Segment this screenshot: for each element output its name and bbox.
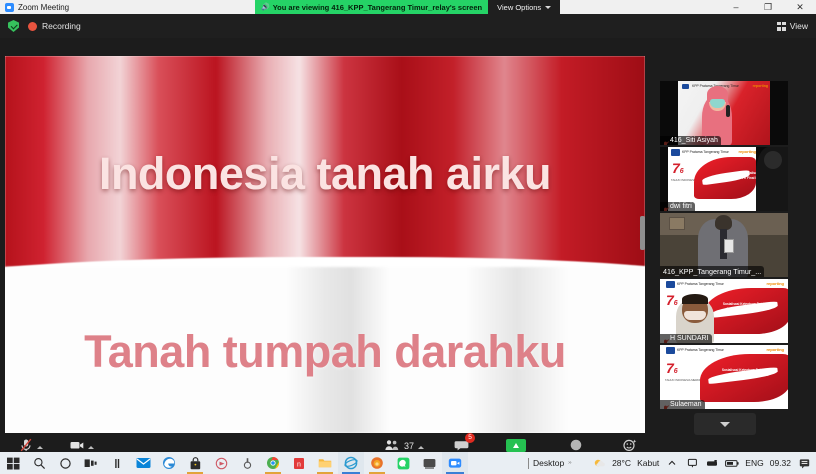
participant-tile[interactable]: KPP Pratama Tangerang Timur reporting 76… [660, 147, 788, 211]
widgets-button[interactable] [104, 452, 130, 474]
participant-tile[interactable]: KPP Pratama Tangerang Timur reporting 41… [660, 81, 788, 145]
desktop-peek[interactable]: Desktop ›› [528, 452, 572, 474]
chevron-up-icon[interactable] [665, 456, 679, 470]
record-button[interactable] [568, 436, 584, 452]
participant-tile[interactable]: KPP Pratama Tangerang Timur reporting 76… [660, 279, 788, 343]
window-title-bar: Zoom Meeting 🔊 You are viewing 416_KPP_T… [0, 0, 816, 14]
weather-condition: Kabut [637, 458, 659, 468]
clock[interactable]: 09.32 [770, 458, 791, 468]
chevron-up-icon[interactable] [418, 446, 424, 449]
zoom-logo-icon [5, 3, 14, 12]
weather-temperature: 28°C [612, 458, 631, 468]
camera-icon [69, 438, 85, 452]
sun-cloud-icon[interactable] [592, 456, 606, 470]
edge-app[interactable] [156, 452, 182, 474]
screen-share-banner: 🔊 You are viewing 416_KPP_Tangerang Timu… [255, 0, 560, 14]
zoom-meeting-window: Zoom Meeting 🔊 You are viewing 416_KPP_T… [0, 0, 816, 474]
participants-icon [384, 438, 400, 452]
recording-bar: Recording View [0, 14, 816, 38]
meeting-toolbar: 37 5 [0, 436, 816, 452]
svg-text:n: n [297, 461, 301, 468]
recording-indicator[interactable]: Recording [28, 21, 81, 31]
store-app[interactable] [182, 452, 208, 474]
speaker-icon: 🔊 [261, 4, 270, 11]
window-title: Zoom Meeting [18, 3, 69, 12]
participant-tile-active[interactable]: 416_KPP_Tangerang Timur_... [660, 213, 788, 277]
chevron-down-icon [720, 422, 730, 427]
slide-line-bottom: Tanah tumpah darahku [5, 326, 645, 378]
desktop-label: Desktop [533, 458, 564, 468]
task-view-button[interactable] [78, 452, 104, 474]
ie-app[interactable] [338, 452, 364, 474]
viewing-text: You are viewing 416_KPP_Tangerang Timur_… [273, 3, 482, 12]
participants-button[interactable]: 37 [384, 436, 424, 452]
language-indicator[interactable]: ENG [745, 458, 763, 468]
view-options-button[interactable]: View Options [488, 0, 560, 14]
record-circle-icon [568, 438, 584, 452]
filmstrip-scroll-down-button[interactable] [694, 413, 756, 435]
chat-button[interactable]: 5 [454, 436, 470, 452]
share-screen-button[interactable] [506, 436, 526, 452]
explorer-app[interactable] [312, 452, 338, 474]
app-identity: Zoom Meeting [0, 3, 69, 12]
cortana-button[interactable] [52, 452, 78, 474]
window-controls: – ❐ ✕ [720, 0, 816, 14]
mail-app[interactable] [130, 452, 156, 474]
notification-icon[interactable] [797, 456, 811, 470]
whatsapp-app[interactable] [390, 452, 416, 474]
maximize-button[interactable]: ❐ [752, 0, 784, 14]
chevron-up-icon[interactable] [88, 446, 94, 449]
grid-view-icon [777, 22, 786, 31]
participant-name: dwi fitri [660, 202, 695, 211]
minimize-button[interactable]: – [720, 0, 752, 14]
display-icon[interactable] [685, 456, 699, 470]
chat-badge: 5 [465, 433, 475, 443]
network-icon[interactable] [705, 456, 719, 470]
reactions-button[interactable] [622, 436, 638, 452]
notepad-app[interactable]: n [286, 452, 312, 474]
mute-button[interactable] [18, 436, 43, 452]
shared-screen-content[interactable]: Indonesia tanah airku Tanah tumpah darah… [5, 56, 645, 433]
participant-name: 416_Siti Asiyah [660, 136, 721, 145]
slide-line-top: Indonesia tanah airku [5, 148, 645, 200]
vertical-scrollbar[interactable] [640, 216, 645, 250]
view-options-label: View Options [497, 3, 541, 12]
chevron-up-icon[interactable] [37, 446, 43, 449]
divider [528, 458, 529, 469]
chrome-app[interactable] [260, 452, 286, 474]
battery-icon[interactable] [725, 456, 739, 470]
windows-taskbar: n Desktop ›› 28°C Kabu [0, 452, 816, 474]
terminal-app[interactable] [416, 452, 442, 474]
system-tray: 28°C Kabut ENG 09.32 [592, 452, 816, 474]
search-icon[interactable] [26, 452, 52, 474]
start-button[interactable] [0, 452, 26, 474]
shield-check-icon[interactable] [8, 20, 19, 32]
firefox-app[interactable] [364, 452, 390, 474]
media-app[interactable] [208, 452, 234, 474]
recording-label: Recording [42, 21, 81, 31]
viewing-pill: 🔊 You are viewing 416_KPP_Tangerang Timu… [255, 0, 488, 14]
mic-muted-icon [18, 438, 34, 452]
video-button[interactable] [69, 436, 94, 452]
reactions-icon [622, 438, 638, 452]
participant-filmstrip: KPP Pratama Tangerang Timur reporting 41… [660, 81, 790, 435]
desktop-superscript: ›› [568, 460, 571, 466]
share-screen-icon [506, 439, 526, 452]
chevron-down-icon [545, 6, 551, 9]
settings-app[interactable] [234, 452, 260, 474]
participant-name: Sulaeman [660, 400, 705, 409]
meeting-stage: Indonesia tanah airku Tanah tumpah darah… [0, 38, 816, 436]
record-dot-icon [28, 22, 37, 31]
participant-tile[interactable]: KPP Pratama Tangerang Timur reporting 76… [660, 345, 788, 409]
participant-count: 37 [404, 441, 414, 451]
participant-name: H SUNDARI [660, 334, 712, 343]
close-button[interactable]: ✕ [784, 0, 816, 14]
participant-name: 416_KPP_Tangerang Timur_... [660, 266, 764, 277]
view-label: View [790, 21, 808, 31]
chat-icon: 5 [454, 438, 470, 452]
zoom-app[interactable] [442, 452, 468, 474]
view-layout-button[interactable]: View [777, 21, 808, 31]
